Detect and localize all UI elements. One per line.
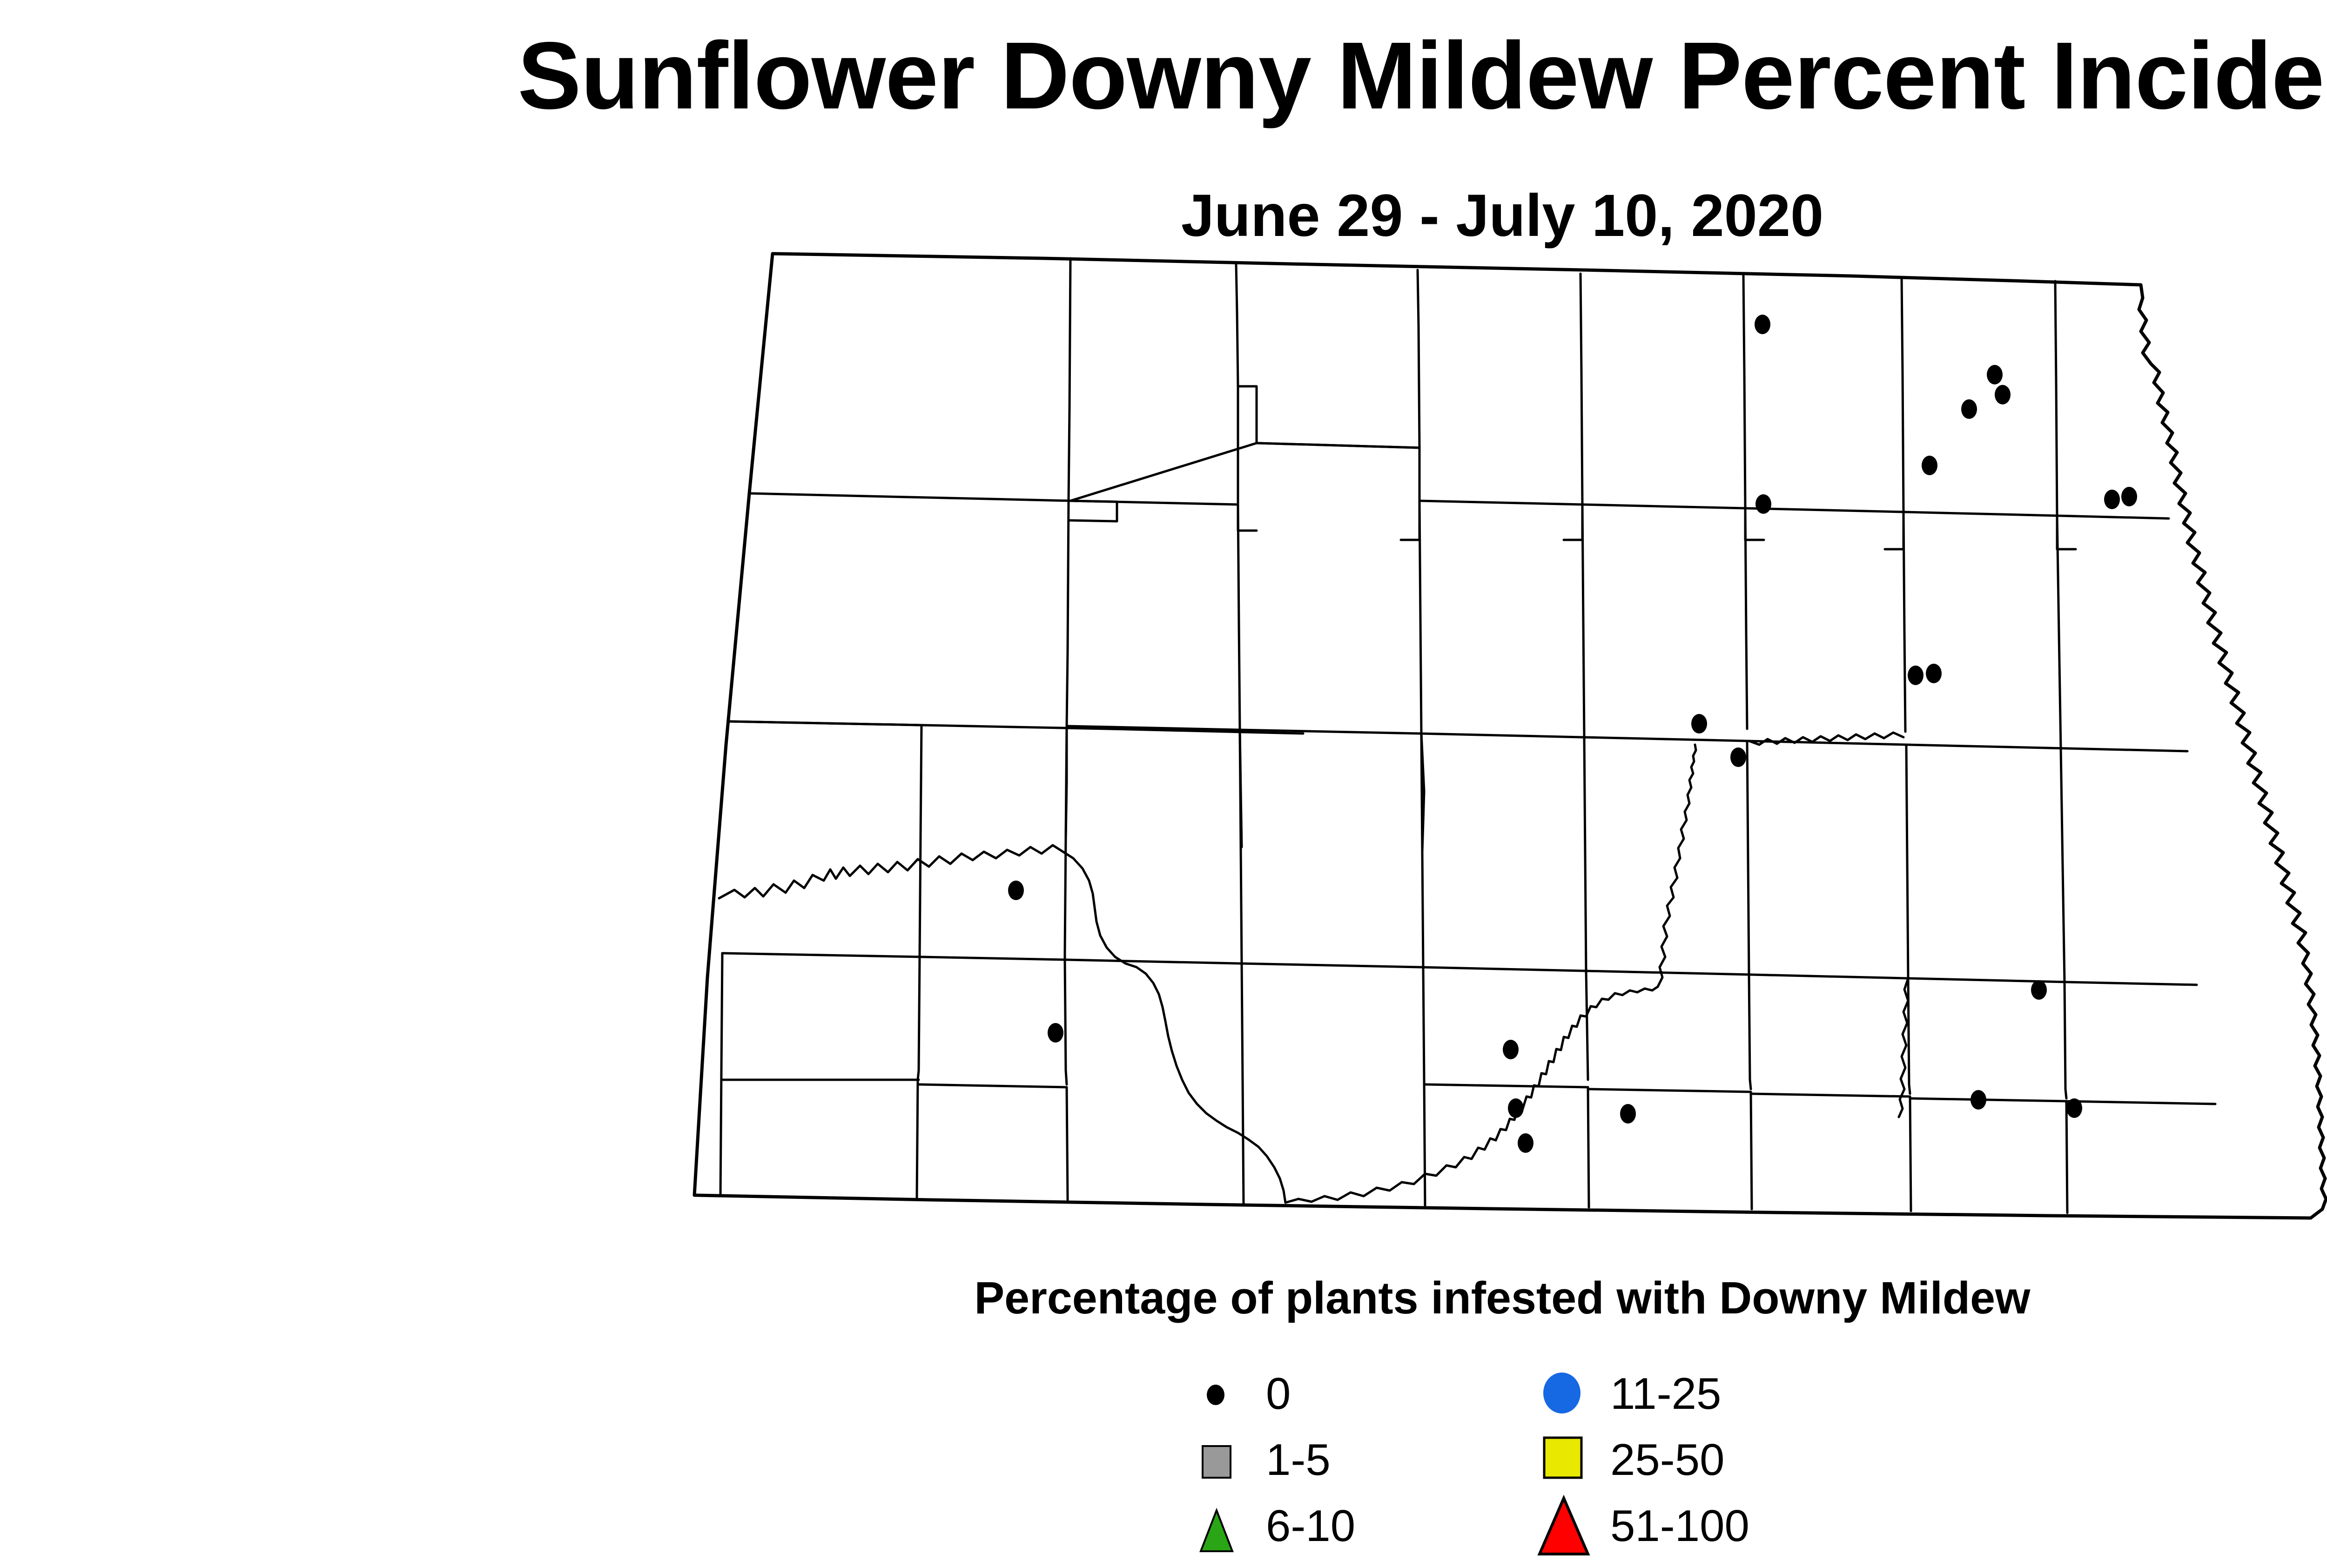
county-line-t6-3 — [1586, 971, 1588, 1080]
sample-point — [1503, 1040, 1519, 1059]
triangle-marker — [1201, 1510, 1232, 1551]
county-line-t6-14 — [2066, 1101, 2067, 1213]
county-line-t6-9 — [1908, 978, 1910, 1094]
north-dakota-map — [0, 233, 2327, 1257]
sample-point — [1730, 747, 1746, 767]
county-line-n-7 — [1745, 508, 1747, 729]
county-line-t5-1 — [720, 953, 722, 1196]
county-stair-nw — [1069, 501, 1117, 521]
county-jog-1 — [1238, 505, 1257, 531]
county-line-t2-10 — [2057, 516, 2061, 748]
legend-column-right: 11-25 25-50 51-100 — [1536, 1361, 1890, 1557]
county-line-n-1 — [1070, 386, 1257, 505]
county-jog-6 — [2057, 516, 2076, 549]
legend-item-label: 1-5 — [1266, 1427, 1331, 1493]
legend-item-label: 6-10 — [1266, 1494, 1355, 1559]
county-line-t5-2 — [918, 957, 920, 1080]
triangle-marker — [1540, 1498, 1588, 1554]
sample-point — [1048, 1023, 1063, 1043]
sample-point — [1008, 881, 1024, 900]
county-line-t6-10 — [1751, 1094, 1910, 1097]
county-line-n-6 — [1582, 275, 1745, 508]
county-jog-2 — [1401, 501, 1419, 540]
square-marker — [1544, 1438, 1581, 1478]
county-line-n-11 — [2057, 516, 2169, 518]
sample-point — [1987, 365, 2003, 384]
county-jog-3 — [1564, 505, 1582, 540]
county-line-t6-6 — [1749, 975, 1751, 1089]
circle-marker — [1207, 1385, 1224, 1405]
circle-marker — [1543, 1373, 1580, 1413]
county-line-t6-8 — [1751, 1092, 1752, 1209]
sample-point — [1908, 666, 1923, 685]
county-line-t3-1 — [728, 721, 921, 725]
county-line-nw-2 — [1067, 501, 1069, 726]
county-line-t3-4 — [920, 725, 921, 957]
county-line-t4-4 — [1419, 967, 1584, 971]
sample-point — [1995, 385, 2011, 404]
county-line-n-2 — [1257, 443, 1582, 505]
sample-point — [1518, 1133, 1533, 1153]
county-line-n-3 — [1418, 270, 1419, 448]
sample-point — [1922, 456, 1937, 475]
county-line-t4-10 — [1908, 978, 2197, 985]
county-line-t4-8 — [1750, 975, 1908, 978]
county-line-t4-5 — [1584, 737, 1586, 971]
legend-item[interactable]: 25-50 — [1536, 1427, 1890, 1493]
legend-swatch-triangle-icon — [1191, 1494, 1261, 1559]
map-svg — [0, 233, 2327, 1257]
sample-point — [1508, 1098, 1524, 1118]
missouri-river-south — [1285, 987, 1658, 1203]
county-line-t6-13 — [1910, 1098, 2066, 1101]
map-figure: Sunflower Downy Mildew Percent Incidence… — [0, 0, 2327, 1568]
county-line-nw-1 — [1069, 258, 1070, 501]
county-jog-5 — [1885, 512, 1903, 549]
sample-point — [1755, 315, 1770, 334]
county-line-t6-11 — [1910, 1097, 1911, 1211]
legend-item-label: 11-25 — [1610, 1361, 1721, 1427]
sample-point — [1620, 1104, 1636, 1124]
legend-swatch-square-icon — [1536, 1427, 1606, 1493]
legend-item[interactable]: 6-10 — [1191, 1494, 1545, 1559]
county-line-t6-7 — [1588, 1089, 1751, 1092]
county-line-t2-2 — [1238, 505, 1240, 730]
county-line-n-8 — [1745, 277, 1903, 512]
county-boundaries — [694, 254, 2326, 1218]
county-line-t2-9 — [1906, 745, 2066, 748]
legend-item-label: 0 — [1266, 1361, 1291, 1427]
sample-point — [2031, 980, 2047, 1000]
county-line-mckenzie-1 — [1066, 726, 1067, 838]
county-line-t6-15 — [2066, 1101, 2215, 1104]
legend-item-label: 51-100 — [1610, 1494, 1749, 1559]
county-line-t5-6 — [919, 1084, 1067, 1087]
county-line-t6-4 — [1425, 1084, 1588, 1087]
county-line-t5-4 — [917, 1080, 918, 1198]
legend-item[interactable]: 1-5 — [1191, 1427, 1545, 1493]
sample-point — [2104, 490, 2120, 509]
county-line-t5-5 — [1065, 960, 1067, 1084]
county-line-t4-11 — [2061, 748, 2065, 982]
legend-swatch-circle-icon — [1536, 1361, 1606, 1427]
county-line-t6-12 — [2065, 982, 2066, 1098]
tier-1-2-line — [749, 493, 1070, 501]
page-title: Sunflower Downy Mildew Percent Incidence — [0, 28, 2327, 123]
sample-point — [1971, 1090, 1986, 1110]
square-marker — [1203, 1446, 1231, 1478]
county-line-t2-11 — [2066, 748, 2187, 751]
county-line-t3-3 — [722, 953, 1065, 960]
tier-1-2-line-b — [1070, 443, 1419, 501]
sample-point — [1961, 399, 1977, 419]
county-line-t2-7 — [1582, 737, 1747, 741]
county-line-t6-1 — [1242, 963, 1244, 1204]
county-line-t4-9 — [1906, 745, 1908, 978]
county-line-t5-7 — [1067, 1087, 1068, 1200]
county-line-n-10 — [1903, 281, 2057, 516]
sample-point — [1755, 494, 1771, 514]
legend: 0 1-5 6-10 — [1191, 1361, 2029, 1557]
legend-swatch-circle-icon — [1191, 1361, 1261, 1427]
county-line-t6-5 — [1588, 1087, 1589, 1207]
legend-swatch-triangle-icon — [1536, 1494, 1606, 1559]
james-river — [1658, 745, 1696, 987]
county-line-t2-5 — [1419, 734, 1582, 737]
legend-title: Percentage of plants infested with Downy… — [0, 1275, 2327, 1320]
county-line-n-5 — [1580, 274, 1582, 505]
legend-item[interactable]: 51-100 — [1536, 1494, 1890, 1559]
county-line-t6-2 — [1423, 967, 1425, 1205]
legend-item[interactable]: 0 — [1191, 1361, 1545, 1427]
legend-swatch-square-icon — [1191, 1427, 1261, 1493]
sample-point — [1691, 714, 1707, 734]
sample-point — [2121, 487, 2137, 506]
county-line-t4-7 — [1747, 741, 1749, 975]
legend-item-label: 25-50 — [1610, 1427, 1725, 1493]
county-line-n-4 — [1236, 264, 1238, 386]
lake-sakakawea — [719, 845, 1285, 1203]
legend-column-left: 0 1-5 6-10 — [1191, 1361, 1545, 1557]
county-line-west-notch — [694, 1195, 720, 1196]
sample-point — [1926, 664, 1942, 683]
county-line-t4-6 — [1584, 971, 1750, 975]
legend-item[interactable]: 11-25 — [1536, 1361, 1890, 1427]
sample-point — [2066, 1098, 2082, 1118]
